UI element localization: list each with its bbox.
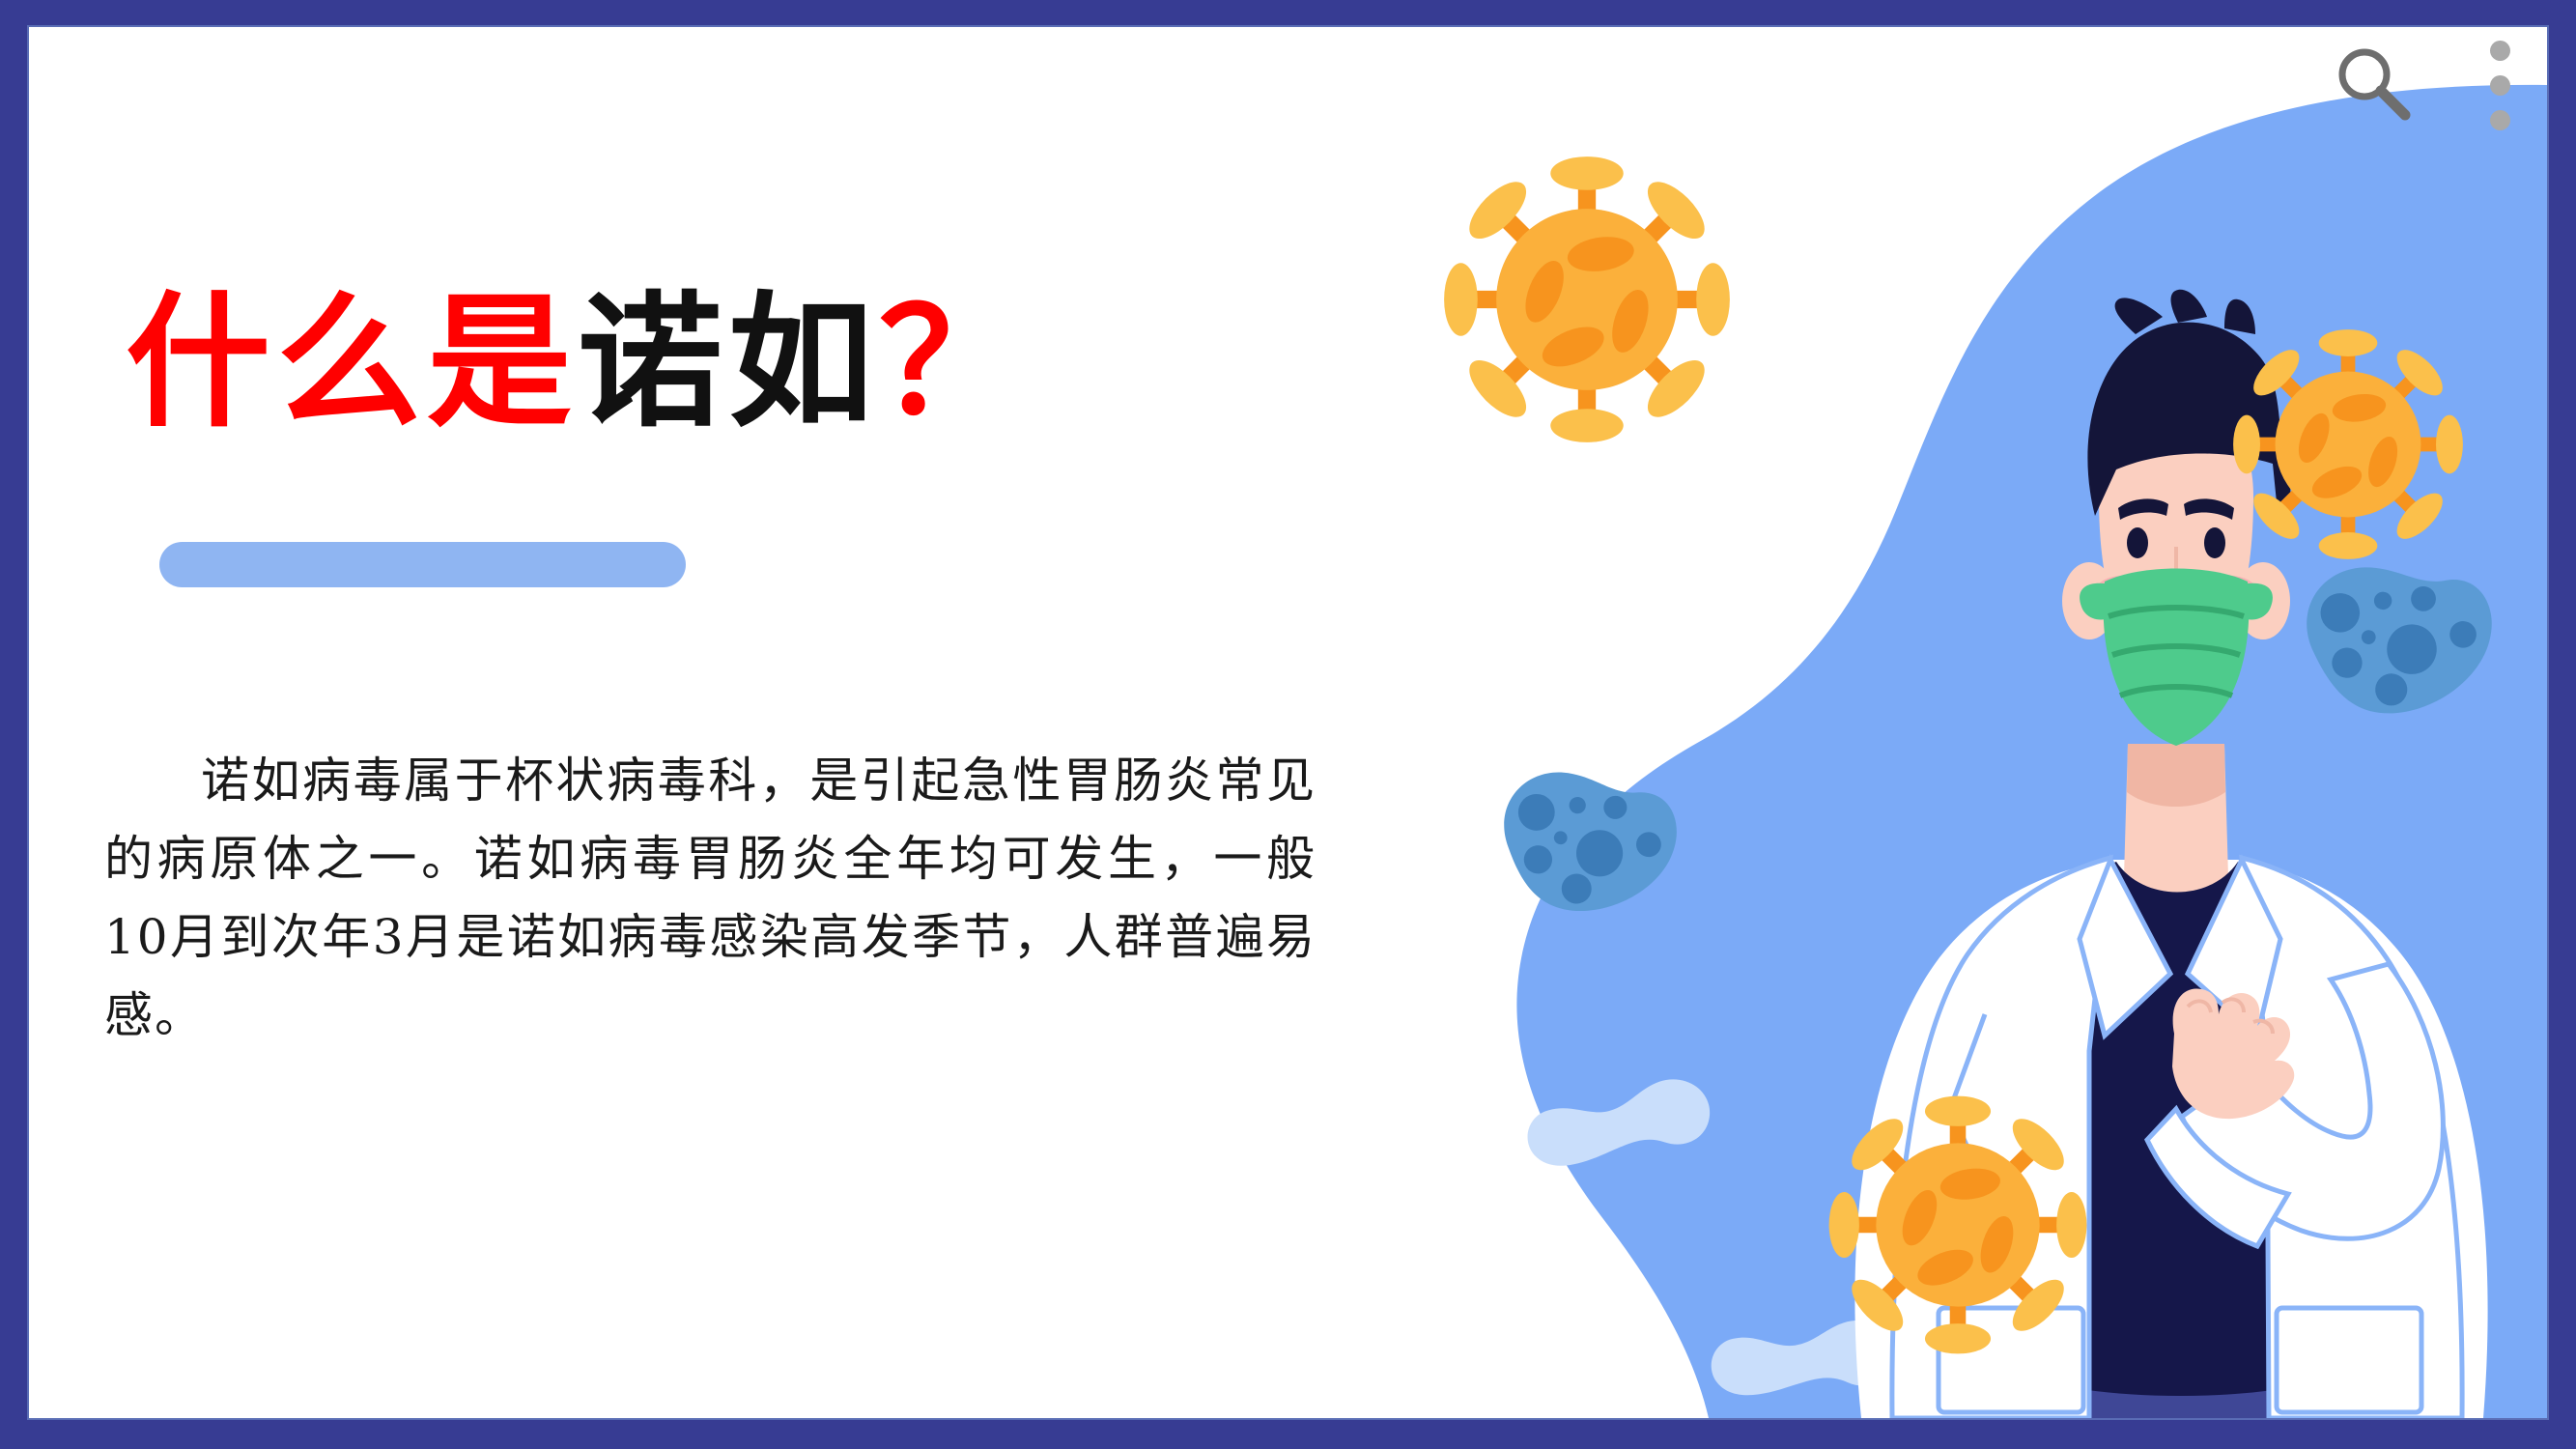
title-underline-bar [159, 542, 686, 587]
title-highlight: 什么是 [126, 281, 578, 443]
slide-root: 什么是诺如？ 诺如病毒属于杯状病毒科，是引起急性胃肠炎常见的病原体之一。诺如病毒… [0, 0, 2576, 1449]
search-icon[interactable] [2330, 42, 2419, 130]
topbar-controls [2330, 37, 2514, 134]
illustration-doctor-virus [1262, 27, 2547, 1418]
slide-canvas: 什么是诺如？ 诺如病毒属于杯状病毒科，是引起急性胃肠炎常见的病原体之一。诺如病毒… [29, 27, 2547, 1418]
kebab-dot-2 [2490, 75, 2510, 96]
title-dark: 诺如 [578, 281, 879, 443]
kebab-dot-1 [2490, 41, 2510, 61]
page-title: 什么是诺如？ [126, 290, 1030, 435]
title-question-mark: ？ [879, 281, 1030, 443]
kebab-dot-3 [2490, 110, 2510, 130]
more-vertical-icon[interactable] [2486, 37, 2514, 134]
body-paragraph: 诺如病毒属于杯状病毒科，是引起急性胃肠炎常见的病原体之一。诺如病毒胃肠炎全年均可… [104, 742, 1316, 1055]
